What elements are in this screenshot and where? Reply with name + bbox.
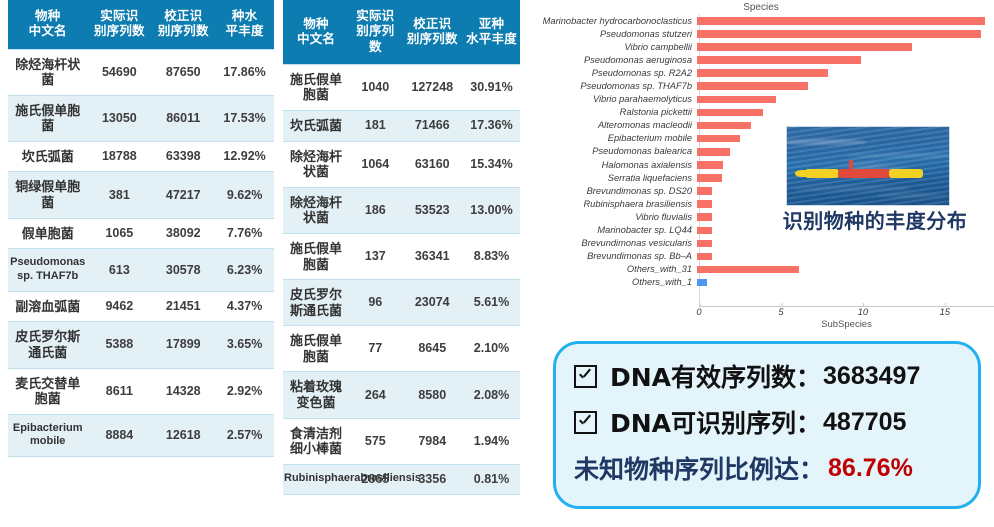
species-abundance-table: 物种中文名 实际识别序列数 校正识别序列数 种水平丰度 除烃海杆状菌546908… [8, 0, 274, 457]
summary-row: DNA可识别序列：487705 [574, 404, 960, 440]
bar-track [697, 263, 994, 276]
bar [697, 266, 799, 274]
cell-abundance: 17.53% [215, 95, 274, 141]
cell-actual-reads: 18788 [87, 141, 151, 172]
cell-species-name: 除烃海杆状菌 [8, 49, 87, 95]
cell-species-name: Rubinisphaerabrasiliensis [283, 464, 349, 494]
cell-actual-reads: 137 [349, 233, 401, 279]
bar [697, 135, 740, 143]
column-header-actual-reads: 实际识别序列数 [87, 0, 151, 49]
x-axis-label: SubSpecies [699, 319, 994, 330]
cell-species-name: 除烃海杆状菌 [283, 141, 349, 187]
x-tick-label: 10 [858, 307, 868, 317]
unknown-species-ratio-row: 未知物种序列比例达： 86.76% [574, 450, 960, 486]
cell-actual-reads: 13050 [87, 95, 151, 141]
cell-actual-reads: 9462 [87, 291, 151, 322]
cell-abundance: 2.57% [215, 414, 274, 457]
table-row: 施氏假单胞菌104012724830.91% [283, 64, 520, 110]
cell-abundance: 2.10% [463, 326, 520, 372]
cell-actual-reads: 8611 [87, 368, 151, 414]
cell-actual-reads: 96 [349, 280, 401, 326]
x-tick-mark [863, 303, 864, 307]
bar-category-label: Marinobacter sp. LQ44 [528, 225, 697, 235]
table-body: 除烃海杆状菌546908765017.86%施氏假单胞菌130508601117… [8, 49, 274, 457]
column-header-corrected-reads: 校正识别序列数 [151, 0, 215, 49]
bar-category-label: Rubinisphaera brasiliensis [528, 199, 697, 209]
bar-track [697, 250, 994, 263]
bar [697, 82, 808, 90]
table-row: 假单胞菌1065380927.76% [8, 218, 274, 249]
table-header-row: 物种中文名 实际识别序列数 校正识别序列数 种水平丰度 [8, 0, 274, 49]
bar-row: Brevundimonas sp. Bb–A [528, 250, 994, 263]
cell-corrected-reads: 8645 [401, 326, 463, 372]
auv-antenna [849, 160, 853, 171]
cell-actual-reads: 575 [349, 418, 401, 464]
cell-species-name: 食清洁剂细小棒菌 [283, 418, 349, 464]
cell-actual-reads: 381 [87, 172, 151, 218]
table-row: 皮氏罗尔斯通氏菌5388178993.65% [8, 322, 274, 368]
checkbox-checked-icon [574, 411, 597, 434]
cell-abundance: 6.23% [215, 249, 274, 292]
bar-row: Ralstonia pickettii [528, 106, 994, 119]
bar-category-label: Ralstonia pickettii [528, 107, 697, 117]
species-abundance-table-panel: 物种中文名 实际识别序列数 校正识别序列数 种水平丰度 除烃海杆状菌546908… [8, 0, 274, 457]
table-row: 坎氏弧菌1817146617.36% [283, 110, 520, 141]
cell-species-name: Epibacterium mobile [8, 414, 87, 457]
bar [697, 56, 861, 64]
cell-abundance: 5.61% [463, 280, 520, 326]
cell-species-name: 粘着玫瑰变色菌 [283, 372, 349, 418]
cell-corrected-reads: 53523 [401, 187, 463, 233]
bar-category-label: Others_with_1 [528, 277, 697, 287]
cell-corrected-reads: 47217 [151, 172, 215, 218]
table-row: Pseudomonas sp. THAF7b613305786.23% [8, 249, 274, 292]
bar [697, 17, 985, 25]
bar [697, 253, 712, 261]
x-tick-label: 15 [940, 307, 950, 317]
dna-summary-box: DNA有效序列数：3683497DNA可识别序列：487705 未知物种序列比例… [553, 341, 981, 509]
unknown-species-ratio-label: 未知物种序列比例达： [574, 450, 824, 486]
cell-abundance: 13.00% [463, 187, 520, 233]
auv-ocean-photo [786, 126, 950, 206]
cell-abundance: 9.62% [215, 172, 274, 218]
cell-corrected-reads: 86011 [151, 95, 215, 141]
cell-abundance: 15.34% [463, 141, 520, 187]
cell-corrected-reads: 87650 [151, 49, 215, 95]
bar-row: Pseudomonas aeruginosa [528, 53, 994, 66]
bar-track [697, 79, 994, 92]
bar-category-label: Others_with_31 [528, 264, 697, 274]
bar-row: Marinobacter hydrocarbonoclasticus [528, 14, 994, 27]
auv-middle-section [838, 169, 890, 178]
cell-abundance: 12.92% [215, 141, 274, 172]
column-header-abundance: 亚种水平丰度 [463, 0, 520, 64]
cell-species-name: 施氏假单胞菌 [8, 95, 87, 141]
cell-actual-reads: 1064 [349, 141, 401, 187]
cell-corrected-reads: 127248 [401, 64, 463, 110]
table-row: Rubinisphaerabrasiliensis286533560.81% [283, 464, 520, 494]
table-row: 施氏假单胞菌7786452.10% [283, 326, 520, 372]
cell-species-name: 坎氏弧菌 [283, 110, 349, 141]
bar-row: Others_with_31 [528, 263, 994, 276]
bar-track [697, 106, 994, 119]
bar-row: Pseudomonas stutzeri [528, 27, 994, 40]
bar [697, 240, 712, 248]
bar-category-label: Vibrio parahaemolyticus [528, 94, 697, 104]
subspecies-abundance-table-panel: 物种中文名 实际识别序列数 校正识别序列数 亚种水平丰度 施氏假单胞菌10401… [283, 0, 520, 495]
bar-row: Vibrio campbellii [528, 40, 994, 53]
cell-actual-reads: 77 [349, 326, 401, 372]
bar-track [697, 27, 994, 40]
table-row: 施氏假单胞菌130508601117.53% [8, 95, 274, 141]
cell-actual-reads: 8884 [87, 414, 151, 457]
bar-track [697, 93, 994, 106]
cell-abundance: 3.65% [215, 322, 274, 368]
cell-corrected-reads: 21451 [151, 291, 215, 322]
cell-actual-reads: 5388 [87, 322, 151, 368]
unknown-species-ratio-value: 86.76% [828, 454, 913, 483]
cell-species-name: 坎氏弧菌 [8, 141, 87, 172]
bar [697, 122, 751, 130]
bar-category-label: Pseudomonas balearica [528, 146, 697, 156]
bar-category-label: Halomonas axialensis [528, 160, 697, 170]
cell-species-name: 副溶血弧菌 [8, 291, 87, 322]
cell-corrected-reads: 36341 [401, 233, 463, 279]
cell-corrected-reads: 7984 [401, 418, 463, 464]
x-tick-label: 0 [696, 307, 701, 317]
bar-category-label: Epibacterium mobile [528, 133, 697, 143]
auv-rear-section [889, 169, 923, 178]
column-header-species-name: 物种中文名 [283, 0, 349, 64]
bar-track [697, 237, 994, 250]
table-row: 皮氏罗尔斯通氏菌96230745.61% [283, 280, 520, 326]
bar-track [697, 53, 994, 66]
cell-actual-reads: 1040 [349, 64, 401, 110]
cell-actual-reads: 181 [349, 110, 401, 141]
bar [697, 148, 730, 156]
bar-category-label: Marinobacter hydrocarbonoclasticus [528, 16, 697, 26]
table-row: 副溶血弧菌9462214514.37% [8, 291, 274, 322]
column-header-species-name: 物种中文名 [8, 0, 87, 49]
auv-front-section [805, 169, 839, 178]
bar [697, 279, 707, 287]
cell-species-name: 施氏假单胞菌 [283, 326, 349, 372]
table-row: 施氏假单胞菌137363418.83% [283, 233, 520, 279]
cell-actual-reads: 264 [349, 372, 401, 418]
bar-category-label: Brevundimonas sp. Bb–A [528, 251, 697, 261]
bar [697, 187, 712, 195]
bar [697, 213, 712, 221]
cell-species-name: 除烃海杆状菌 [283, 187, 349, 233]
cell-abundance: 2.92% [215, 368, 274, 414]
bar-category-label: Alteromonas macleodii [528, 120, 697, 130]
cell-corrected-reads: 38092 [151, 218, 215, 249]
cell-species-name: 假单胞菌 [8, 218, 87, 249]
bar [697, 200, 712, 208]
auv-vehicle [805, 169, 923, 178]
cell-abundance: 1.94% [463, 418, 520, 464]
bar [697, 109, 763, 117]
x-tick-mark [781, 303, 782, 307]
bar-category-label: Vibrio fluvialis [528, 212, 697, 222]
column-header-corrected-reads: 校正识别序列数 [401, 0, 463, 64]
x-tick-mark [945, 303, 946, 307]
bar-row: Others_with_1 [528, 276, 994, 289]
chart-caption: 识别物种的丰度分布 [768, 205, 982, 234]
cell-species-name: 麦氏交替单胞菌 [8, 368, 87, 414]
cell-corrected-reads: 8580 [401, 372, 463, 418]
cell-species-name: Pseudomonas sp. THAF7b [8, 249, 87, 292]
cell-corrected-reads: 17899 [151, 322, 215, 368]
cell-species-name: 铜绿假单胞菌 [8, 172, 87, 218]
summary-rows: DNA有效序列数：3683497DNA可识别序列：487705 [574, 358, 960, 440]
cell-corrected-reads: 30578 [151, 249, 215, 292]
checkbox-checked-icon [574, 365, 597, 388]
x-tick-label: 5 [778, 307, 783, 317]
bar-category-label: Brevundimonas sp. DS20 [528, 186, 697, 196]
bar [697, 69, 828, 77]
bar [697, 30, 981, 38]
summary-row: DNA有效序列数：3683497 [574, 358, 960, 394]
bar [697, 174, 722, 182]
x-tick-mark [699, 303, 700, 307]
table-row: 除烃海杆状菌1865352313.00% [283, 187, 520, 233]
cell-species-name: 施氏假单胞菌 [283, 64, 349, 110]
bar-row: Brevundimonas vesicularis [528, 237, 994, 250]
cell-corrected-reads: 63398 [151, 141, 215, 172]
bar [697, 227, 712, 235]
table-row: 粘着玫瑰变色菌26485802.08% [283, 372, 520, 418]
bar-category-label: Vibrio campbellii [528, 42, 697, 52]
cell-actual-reads: 186 [349, 187, 401, 233]
bar-track [697, 14, 994, 27]
table-row: 除烃海杆状菌10646316015.34% [283, 141, 520, 187]
bar [697, 161, 723, 169]
summary-value: 487705 [823, 408, 906, 437]
cell-corrected-reads: 14328 [151, 368, 215, 414]
cell-abundance: 4.37% [215, 291, 274, 322]
cell-abundance: 17.86% [215, 49, 274, 95]
column-header-actual-reads: 实际识别序列数 [349, 0, 401, 64]
bar-category-label: Pseudomonas sp. R2A2 [528, 68, 697, 78]
table-body: 施氏假单胞菌104012724830.91%坎氏弧菌1817146617.36%… [283, 64, 520, 494]
bar-track [697, 66, 994, 79]
table-row: 铜绿假单胞菌381472179.62% [8, 172, 274, 218]
cell-abundance: 7.76% [215, 218, 274, 249]
cell-species-name: 皮氏罗尔斯通氏菌 [283, 280, 349, 326]
table-header-row: 物种中文名 实际识别序列数 校正识别序列数 亚种水平丰度 [283, 0, 520, 64]
bar-category-label: Serratia liquefaciens [528, 173, 697, 183]
bar-category-label: Brevundimonas vesicularis [528, 238, 697, 248]
table-row: 麦氏交替单胞菌8611143282.92% [8, 368, 274, 414]
bar-row: Pseudomonas sp. THAF7b [528, 79, 994, 92]
summary-value: 3683497 [823, 362, 920, 391]
bar-track [697, 40, 994, 53]
cell-abundance: 17.36% [463, 110, 520, 141]
chart-title: Species [528, 2, 994, 13]
bar-track [697, 276, 994, 289]
cell-corrected-reads: 12618 [151, 414, 215, 457]
bar [697, 43, 912, 51]
summary-label: DNA可识别序列： [610, 404, 821, 440]
cell-corrected-reads: 23074 [401, 280, 463, 326]
cell-actual-reads: 613 [87, 249, 151, 292]
bar-category-label: Pseudomonas sp. THAF7b [528, 81, 697, 91]
bar-row: Pseudomonas sp. R2A2 [528, 66, 994, 79]
bar [697, 96, 776, 104]
column-header-abundance: 种水平丰度 [215, 0, 274, 49]
cell-abundance: 0.81% [463, 464, 520, 494]
bar-category-label: Pseudomonas aeruginosa [528, 55, 697, 65]
cell-corrected-reads: 71466 [401, 110, 463, 141]
cell-abundance: 8.83% [463, 233, 520, 279]
table-row: 食清洁剂细小棒菌57579841.94% [283, 418, 520, 464]
table-row: 除烃海杆状菌546908765017.86% [8, 49, 274, 95]
cell-species-name: 皮氏罗尔斯通氏菌 [8, 322, 87, 368]
bar-category-label: Pseudomonas stutzeri [528, 29, 697, 39]
cell-corrected-reads: 63160 [401, 141, 463, 187]
table-row: Epibacterium mobile8884126182.57% [8, 414, 274, 457]
bar-row: Vibrio parahaemolyticus [528, 93, 994, 106]
table-row: 坎氏弧菌187886339812.92% [8, 141, 274, 172]
cell-abundance: 2.08% [463, 372, 520, 418]
cell-actual-reads: 54690 [87, 49, 151, 95]
cell-abundance: 30.91% [463, 64, 520, 110]
cell-species-name: 施氏假单胞菌 [283, 233, 349, 279]
subspecies-abundance-table: 物种中文名 实际识别序列数 校正识别序列数 亚种水平丰度 施氏假单胞菌10401… [283, 0, 520, 495]
cell-actual-reads: 1065 [87, 218, 151, 249]
summary-label: DNA有效序列数： [610, 358, 821, 394]
